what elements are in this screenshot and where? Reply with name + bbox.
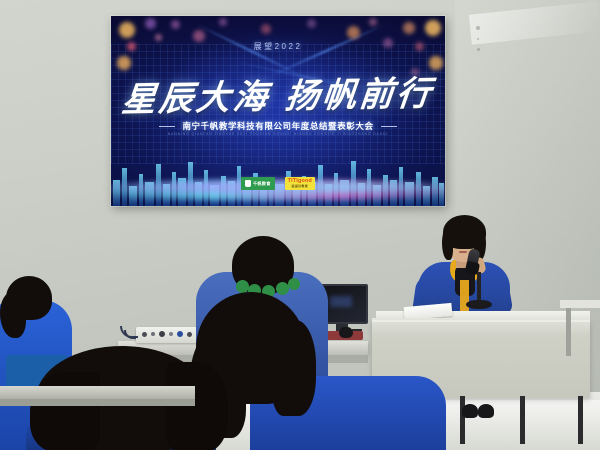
bokeh-light xyxy=(307,19,316,28)
computer-mouse xyxy=(339,327,353,338)
side-shelf xyxy=(560,300,600,308)
table-leg xyxy=(520,396,525,444)
side-shelf-leg xyxy=(566,308,571,356)
projection-screen: 展望2022 星辰大海 扬帆前行 南宁千帆教学科技有限公司年度总结暨表彰大会 N… xyxy=(111,16,445,206)
bokeh-light xyxy=(369,18,377,26)
bokeh-light xyxy=(219,18,227,26)
attendee-foreground-hair xyxy=(30,372,100,450)
bokeh-light xyxy=(403,22,415,34)
leaf-icon xyxy=(245,180,251,187)
screen-city-skyline xyxy=(111,144,445,206)
table-leg xyxy=(578,396,583,444)
screen-main-title: 星辰大海 扬帆前行 xyxy=(111,66,445,122)
foreground-desk-front xyxy=(0,399,195,406)
logo-orange-line2: 提提好教育 xyxy=(292,185,309,188)
bokeh-light xyxy=(171,20,180,29)
screen-subtitle: 南宁千帆教学科技有限公司年度总结暨表彰大会 xyxy=(182,120,373,132)
bokeh-light xyxy=(119,22,135,38)
wall-mark xyxy=(477,48,480,51)
subtitle-rule-right xyxy=(381,126,397,127)
screen-subtitle-row: 南宁千帆教学科技有限公司年度总结暨表彰大会 xyxy=(111,120,445,132)
audio-amplifier-unit xyxy=(136,327,202,343)
mouse-cord xyxy=(352,329,362,331)
mic-stand-base xyxy=(466,300,492,309)
bokeh-light xyxy=(145,18,156,29)
attendee-left-hair xyxy=(0,292,26,338)
bokeh-light xyxy=(261,24,271,34)
bokeh-light xyxy=(155,34,162,41)
logo-green-text: 千帆教育 xyxy=(253,181,271,187)
monitor-screen-glow xyxy=(330,296,352,307)
subtitle-rule-left xyxy=(159,126,175,127)
bokeh-light xyxy=(425,20,441,36)
attendee-center-hair xyxy=(272,320,316,416)
foreground-desk xyxy=(0,386,195,399)
wall-mark xyxy=(476,26,480,30)
speaker-hair-left xyxy=(442,228,453,260)
table-leg xyxy=(460,396,465,444)
screen-subtitle-romanized: NANNING QIANFAN JIAOXUE KEJI YOUXIAN GON… xyxy=(111,132,445,136)
photo-scene: 展望2022 星辰大海 扬帆前行 南宁千帆教学科技有限公司年度总结暨表彰大会 N… xyxy=(0,0,600,450)
logo-green: 千帆教育 xyxy=(241,177,275,190)
bokeh-light xyxy=(117,56,131,70)
bokeh-light xyxy=(347,26,360,39)
screen-logo-row: 千帆教育 TITIgood 提提好教育 xyxy=(111,177,445,190)
speaker-mouth xyxy=(459,251,467,253)
speaker-shoe xyxy=(478,404,494,418)
hair-scrunchie xyxy=(288,278,300,290)
logo-orange: TITIgood 提提好教育 xyxy=(285,177,315,190)
attendee-foreground-hair xyxy=(166,362,228,450)
wall-mark xyxy=(477,38,479,40)
screen-eyebrow-text: 展望2022 xyxy=(111,41,445,52)
speaker-shoe xyxy=(462,404,478,418)
